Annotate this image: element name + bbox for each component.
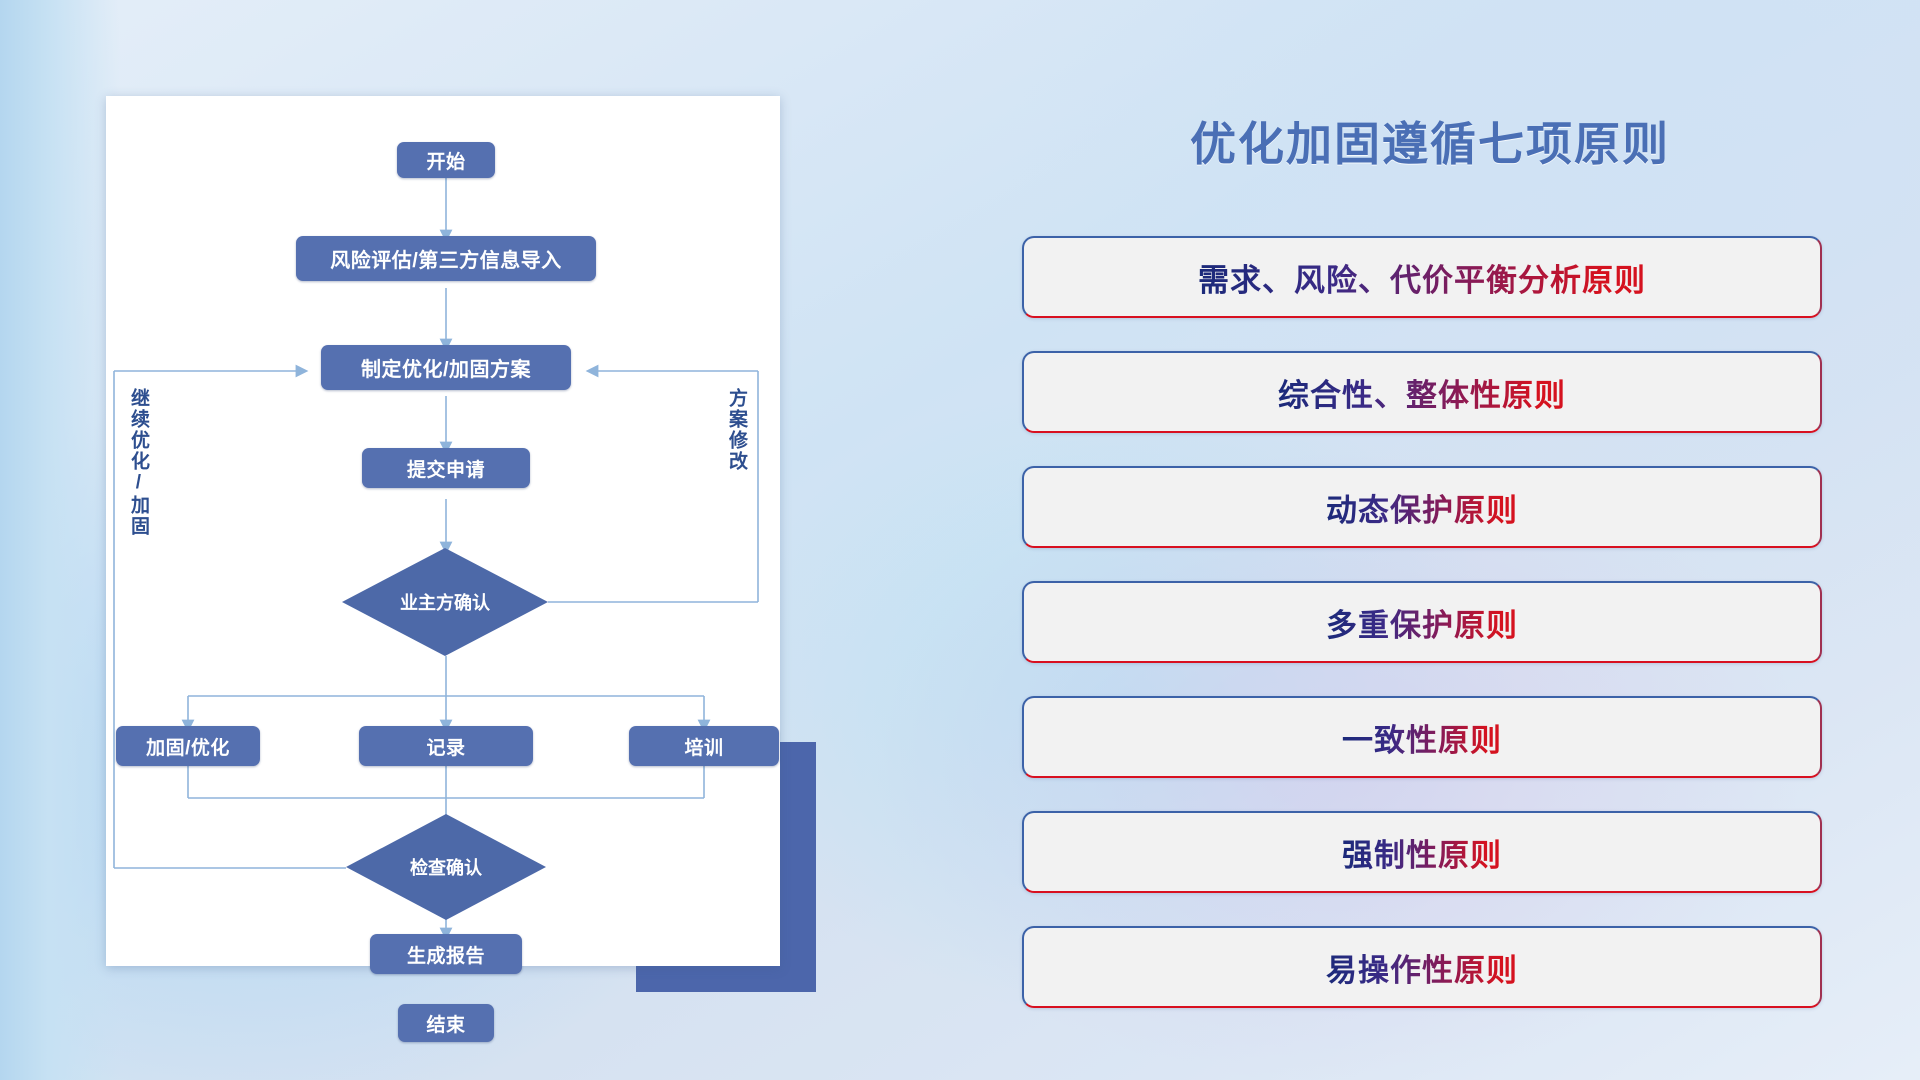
flow-node-label: 结束 <box>426 1010 465 1037</box>
principle-card[interactable]: 易操作性原则 <box>1022 926 1822 1008</box>
flow-node-report[interactable]: 生成报告 <box>370 934 522 974</box>
flow-node-label: 业主方确认 <box>342 548 548 656</box>
flow-node-record[interactable]: 记录 <box>359 726 533 766</box>
flow-node-label: 记录 <box>426 733 465 760</box>
edge-label-right-loop: 方案修改 <box>726 388 746 472</box>
principle-card[interactable]: 多重保护原则 <box>1022 581 1822 663</box>
flow-node-label: 制定优化/加固方案 <box>361 353 531 382</box>
flow-node-label: 加固/优化 <box>146 733 230 760</box>
slide-canvas: 开始 风险评估/第三方信息导入 制定优化/加固方案 提交申请 业主方确认 加固/… <box>0 0 1920 1080</box>
flow-node-label: 生成报告 <box>407 941 485 968</box>
flow-node-risk-assessment[interactable]: 风险评估/第三方信息导入 <box>296 236 596 281</box>
principles-list: 需求、风险、代价平衡分析原则 综合性、整体性原则 动态保护原则 多重保护原则 一… <box>1022 236 1822 1041</box>
flow-node-start[interactable]: 开始 <box>397 142 495 178</box>
flow-node-plan[interactable]: 制定优化/加固方案 <box>321 345 571 390</box>
principle-card[interactable]: 一致性原则 <box>1022 696 1822 778</box>
principle-label: 强制性原则 <box>1342 830 1502 875</box>
flow-node-label: 开始 <box>426 147 465 174</box>
principle-label: 一致性原则 <box>1342 715 1502 760</box>
flow-node-label: 培训 <box>684 733 723 760</box>
flow-node-end[interactable]: 结束 <box>398 1004 494 1042</box>
edge-label-left-loop: 继续优化/加固 <box>128 388 148 537</box>
principle-card[interactable]: 综合性、整体性原则 <box>1022 351 1822 433</box>
flow-node-label: 提交申请 <box>407 455 485 482</box>
flow-node-label: 检查确认 <box>346 814 546 920</box>
principle-label: 易操作性原则 <box>1326 945 1518 990</box>
principle-card[interactable]: 需求、风险、代价平衡分析原则 <box>1022 236 1822 318</box>
flowchart-card: 开始 风险评估/第三方信息导入 制定优化/加固方案 提交申请 业主方确认 加固/… <box>106 96 780 966</box>
flow-node-owner-confirm[interactable]: 业主方确认 <box>342 548 548 656</box>
principle-label: 需求、风险、代价平衡分析原则 <box>1198 255 1646 300</box>
principle-label: 多重保护原则 <box>1326 600 1518 645</box>
flow-node-training[interactable]: 培训 <box>629 726 779 766</box>
flow-node-reinforce[interactable]: 加固/优化 <box>116 726 260 766</box>
flow-node-submit[interactable]: 提交申请 <box>362 448 530 488</box>
principle-label: 综合性、整体性原则 <box>1278 370 1566 415</box>
flow-node-label: 风险评估/第三方信息导入 <box>330 244 562 273</box>
principles-title: 优化加固遵循七项原则 <box>1150 108 1710 174</box>
principle-card[interactable]: 动态保护原则 <box>1022 466 1822 548</box>
principle-card[interactable]: 强制性原则 <box>1022 811 1822 893</box>
principle-label: 动态保护原则 <box>1326 485 1518 530</box>
flow-node-check-confirm[interactable]: 检查确认 <box>346 814 546 920</box>
